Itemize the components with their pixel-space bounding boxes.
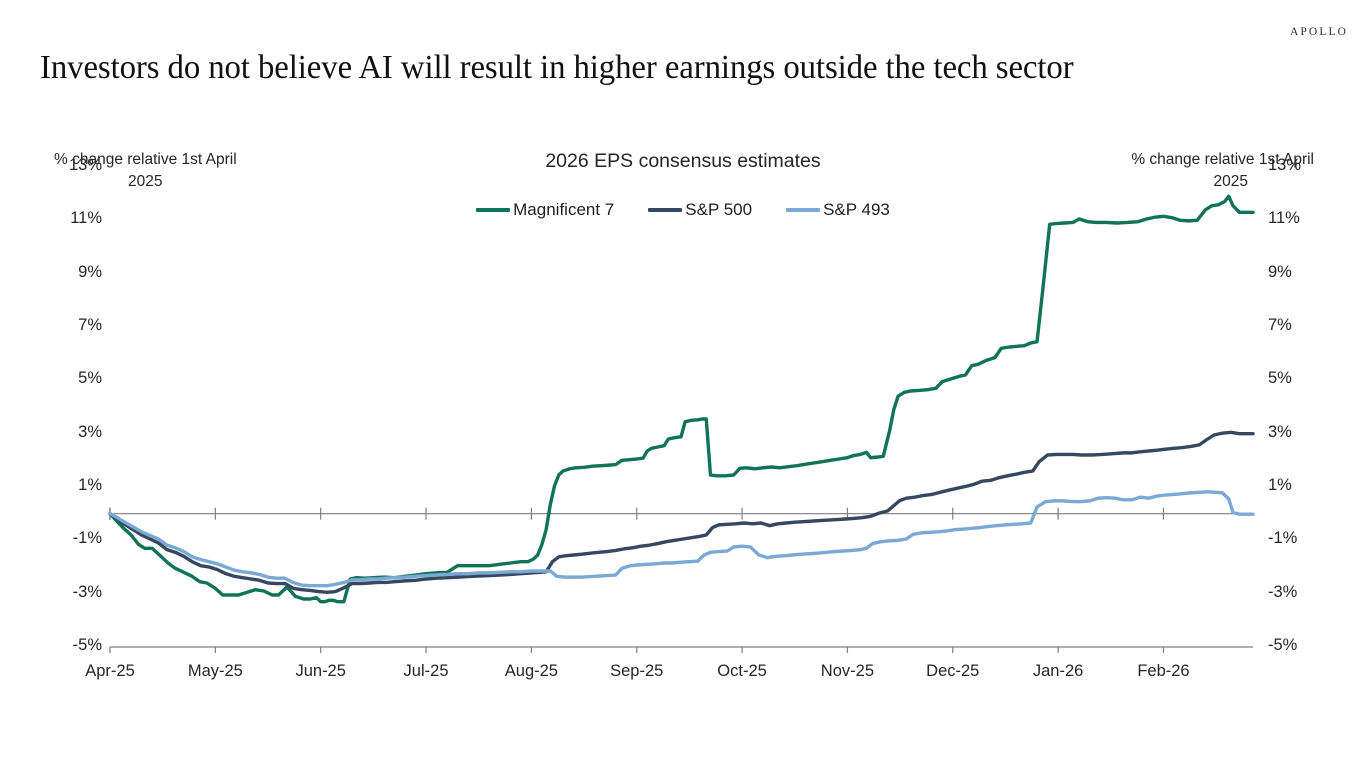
y-axis-tick-label-left: 3% [42,423,102,442]
x-axis-tick-label: Nov-25 [821,662,874,681]
y-axis-tick-label-right: 1% [1268,476,1328,495]
y-axis-tick-label-left: -1% [42,529,102,548]
y-axis-tick-label-right: 5% [1268,369,1328,388]
chart-page: APOLLO Investors do not believe AI will … [0,0,1366,768]
y-axis-tick-label-left: 9% [42,263,102,282]
y-axis-tick-label-left: 1% [42,476,102,495]
y-axis-tick-label-left: -5% [42,636,102,655]
y-axis-tick-label-left: 7% [42,316,102,335]
x-axis-tick-label: Jul-25 [404,662,449,681]
y-axis-tick-label-right: 13% [1268,156,1328,175]
x-axis-tick-label: May-25 [188,662,243,681]
x-axis-tick-label: Apr-25 [85,662,135,681]
x-axis-tick-label: Dec-25 [926,662,979,681]
x-axis-tick-label: Jan-26 [1033,662,1083,681]
y-axis-tick-label-right: 11% [1268,209,1328,228]
y-axis-tick-label-right: 7% [1268,316,1328,335]
y-axis-tick-label-left: 5% [42,369,102,388]
x-axis-tick-label: Jun-25 [295,662,345,681]
x-axis-tick-label: Feb-26 [1137,662,1189,681]
y-axis-tick-label-right: -1% [1268,529,1328,548]
y-axis-tick-label-left: 13% [42,156,102,175]
x-axis-tick-label: Sep-25 [610,662,663,681]
chart-plot-area [0,0,1366,768]
y-axis-tick-label-left: 11% [42,209,102,228]
x-axis-tick-label: Aug-25 [505,662,558,681]
y-axis-tick-label-right: -3% [1268,583,1328,602]
series-line-s-p-500 [110,432,1253,592]
y-axis-tick-label-left: -3% [42,583,102,602]
y-axis-tick-label-right: -5% [1268,636,1328,655]
y-axis-tick-label-right: 3% [1268,423,1328,442]
y-axis-tick-label-right: 9% [1268,263,1328,282]
x-axis-tick-label: Oct-25 [717,662,767,681]
